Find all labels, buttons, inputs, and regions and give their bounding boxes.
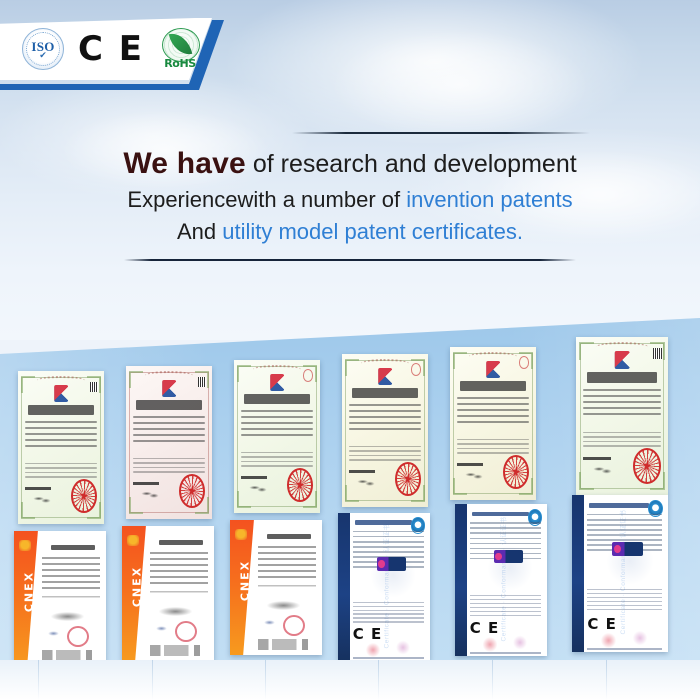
floor-divider [606, 660, 607, 700]
cnex-logo-icon [127, 535, 140, 546]
certificate-field-lines [133, 416, 205, 446]
headline-line-2-dark: Experiencewith a number of [127, 187, 406, 212]
certificate-corner-icon [237, 365, 251, 382]
certificate-title-bar [472, 512, 529, 517]
certificate-title-bar [136, 400, 201, 411]
certificate-field-lines [241, 410, 313, 440]
registration-stamp-icon [303, 369, 314, 382]
signature-mark [261, 617, 278, 628]
headline-line-2: Experiencewith a number of invention pat… [0, 186, 700, 214]
iso-check-icon: ✔ [22, 50, 64, 61]
signature-mark [153, 623, 170, 634]
product-photo [377, 557, 406, 570]
certificate-paragraph [150, 591, 209, 607]
iso-icon: ISO ✔ [22, 28, 64, 70]
certificate-paragraph [457, 439, 529, 457]
certificate-patent-5[interactable] [450, 347, 536, 500]
certificate-arc [596, 342, 648, 352]
qr-code-icon [198, 377, 206, 388]
signature-mark [33, 493, 52, 507]
certificate-ce-1[interactable]: Certificate · Conformance · 认证证书 C E [338, 513, 430, 661]
redacted-text [159, 607, 192, 616]
patent-emblem-icon [615, 351, 630, 368]
certificate-underline [349, 470, 375, 473]
ce-mark-icon: C E [353, 627, 382, 642]
certificate-title-bar [244, 394, 309, 405]
certificate-title-bar [460, 381, 525, 392]
certification-banner: ISO ✔ C E RoHS [0, 18, 250, 94]
certificate-underline [457, 463, 483, 466]
patent-emblem-icon [378, 368, 392, 385]
certificate-arc [145, 371, 193, 381]
qr-code-icon [653, 348, 661, 359]
certificate-title-bar [51, 545, 95, 550]
headline-line-3-dark: And [177, 219, 222, 244]
redacted-text [267, 601, 300, 610]
headline-line-2-blue: invention patents [406, 187, 572, 212]
ce-mark-icon: C E [587, 617, 616, 632]
floor-divider [38, 660, 39, 700]
ce-icon: C E [78, 32, 144, 66]
cnex-side-label: CNEX [131, 565, 144, 607]
product-photo [612, 542, 643, 556]
ce-side-band [572, 495, 584, 652]
headline-line-3-blue: utility model patent certificates. [222, 219, 523, 244]
certificate-cnex-2[interactable]: CNEX [122, 526, 214, 661]
certificate-cnex-3[interactable]: CNEX [230, 520, 322, 655]
certificate-title-bar [28, 405, 93, 416]
signature-mark [593, 463, 613, 477]
patent-emblem-icon [162, 380, 176, 397]
cnex-logo-icon [19, 540, 32, 551]
certificate-title-bar [589, 503, 649, 508]
certificate-footer [587, 648, 662, 650]
certificate-corner-icon [129, 371, 143, 388]
official-seal-icon [175, 621, 197, 643]
floor-divider [152, 660, 153, 700]
signature-mark [465, 469, 484, 483]
official-seal-icon [283, 615, 305, 637]
certificate-ce-3[interactable]: Certificate · Conformance · 认证证书 C E [572, 495, 668, 652]
certificate-field-lines [258, 546, 317, 582]
certificate-paragraph [583, 432, 660, 450]
registration-stamp-icon [519, 356, 530, 369]
secondary-seal-icon [396, 640, 410, 655]
certificate-corner-icon [453, 352, 467, 369]
signature-mark [357, 476, 376, 490]
certificate-underline [583, 457, 611, 460]
certificate-title-bar [267, 534, 311, 539]
cnex-logo-icon [235, 529, 248, 540]
floor-reflection [0, 660, 700, 700]
certificate-arc [253, 365, 301, 375]
certificate-footer [353, 657, 425, 659]
certificate-arc [469, 352, 517, 362]
certificate-corner-icon [579, 342, 594, 360]
certificate-field-lines [42, 557, 101, 593]
certificate-paragraph [349, 446, 421, 464]
ce-mark-icon: C E [470, 621, 499, 636]
certificate-underline [25, 487, 51, 490]
certificate-footer [42, 650, 101, 661]
certificate-title-bar [159, 540, 203, 545]
certificate-footer [150, 645, 209, 656]
certificate-corner-icon [21, 376, 35, 393]
certificate-underline [241, 476, 267, 479]
certification-badge-list: ISO ✔ C E RoHS [0, 18, 215, 80]
product-photo [494, 550, 523, 564]
certificate-ce-2[interactable]: Certificate · Conformance · 认证证书 C E [455, 504, 547, 656]
certificate-field-lines [150, 552, 209, 588]
certificate-footer [258, 639, 317, 650]
signature-mark [45, 628, 62, 639]
redacted-text [51, 612, 84, 621]
headline-block: We have of research and development Expe… [0, 132, 700, 261]
certificate-field-lines [457, 397, 529, 427]
certificate-paragraph [133, 458, 205, 476]
certificate-patent-1[interactable] [18, 371, 104, 524]
cnex-side-label: CNEX [239, 559, 252, 601]
floor-divider [265, 660, 266, 700]
certificate-corner-icon [579, 472, 594, 490]
certificate-patent-4[interactable] [342, 354, 428, 507]
certificate-patent-3[interactable] [234, 360, 320, 513]
official-seal-icon [67, 626, 89, 648]
certificate-paragraph [42, 596, 101, 612]
certificate-footer [470, 652, 542, 654]
certificate-field-lines [25, 421, 97, 451]
patent-emblem-icon [270, 374, 284, 391]
certificate-paragraph [470, 595, 542, 618]
certificate-paragraph [353, 602, 425, 625]
official-seal-icon [601, 632, 616, 649]
official-seal-icon [633, 448, 661, 484]
headline-line-1: We have of research and development [0, 145, 700, 183]
signature-mark [141, 488, 160, 502]
certificate-title-bar [355, 520, 412, 525]
certificate-patent-6[interactable] [576, 337, 668, 495]
certificate-arc [37, 376, 85, 386]
headline-line-3: And utility model patent certificates. [0, 218, 700, 246]
headline-line-1-rest: of research and development [246, 150, 577, 178]
secondary-seal-icon [513, 635, 527, 650]
signature-mark [249, 482, 268, 496]
certificate-cnex-1[interactable]: CNEX [14, 531, 106, 666]
certificate-title-bar [352, 388, 417, 399]
ce-side-band [338, 513, 350, 661]
rohs-label: RoHS [158, 57, 202, 70]
cnex-side-label: CNEX [23, 570, 36, 612]
certificate-patent-2[interactable] [126, 366, 212, 519]
certificate-paragraph [25, 463, 97, 481]
certificate-field-lines [583, 389, 660, 419]
certificate-arc [361, 359, 409, 369]
certificate-paragraph [587, 589, 662, 612]
ce-side-band [455, 504, 467, 656]
floor-divider [378, 660, 379, 700]
qr-code-icon [90, 382, 98, 393]
promo-banner-image: ISO ✔ C E RoHS We have of research and d… [0, 0, 700, 700]
certificate-paragraph [241, 452, 313, 470]
rohs-icon: RoHS [158, 28, 202, 70]
certificate-paragraph [258, 585, 317, 601]
certificate-underline [133, 482, 159, 485]
certificate-field-lines [349, 404, 421, 434]
patent-emblem-icon [486, 361, 500, 378]
certificate-corner-icon [345, 359, 359, 376]
certificate-title-bar [587, 372, 657, 383]
registration-stamp-icon [411, 363, 422, 376]
floor-divider [492, 660, 493, 700]
headline-lines: We have of research and development Expe… [0, 134, 700, 245]
secondary-seal-icon [633, 630, 647, 646]
official-seal-icon [366, 642, 381, 658]
patent-emblem-icon [54, 385, 68, 402]
official-seal-icon [483, 636, 498, 653]
headline-rule-bottom [124, 259, 576, 261]
headline-strong: We have [123, 147, 246, 180]
